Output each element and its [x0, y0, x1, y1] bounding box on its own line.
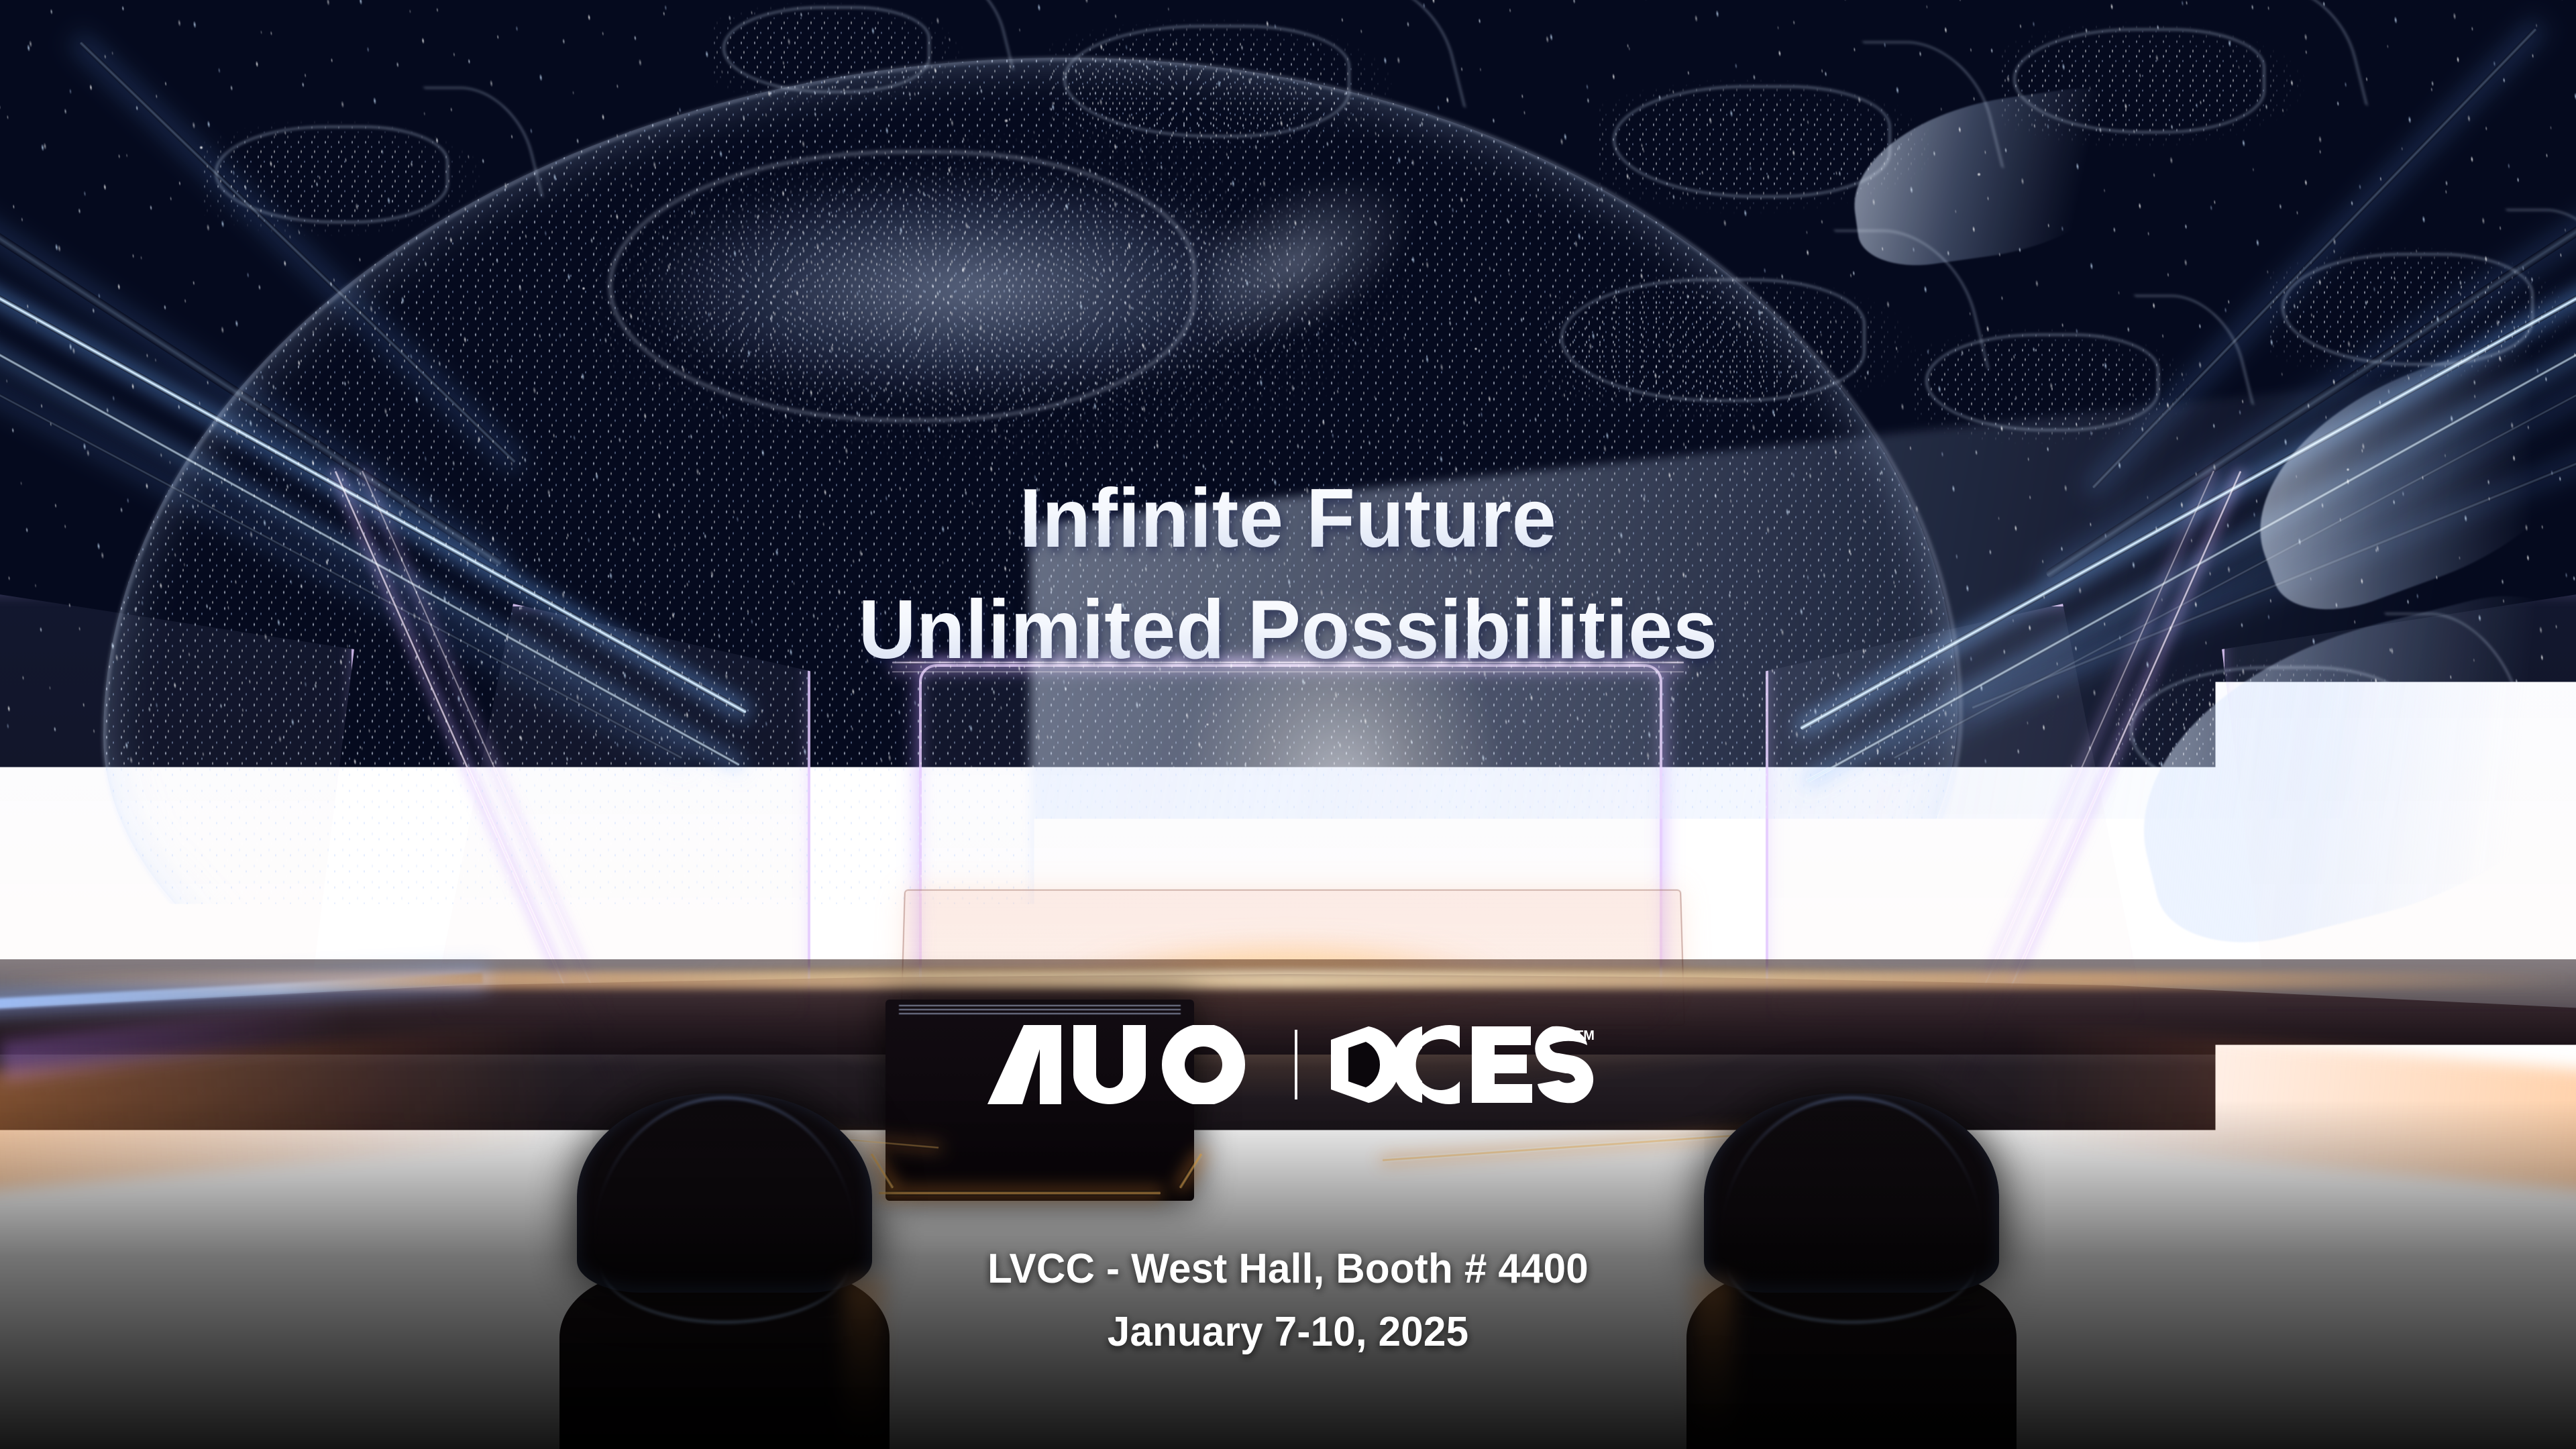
event-dates: January 7-10, 2025 [39, 1301, 2538, 1364]
event-venue: LVCC - West Hall, Booth # 4400 [39, 1238, 2538, 1301]
ces-logo: TM [1328, 1025, 1594, 1104]
console-vent-lines [899, 1005, 1181, 1014]
key-visual-canvas: Infinite Future Unlimited Possibilities … [0, 0, 2576, 1449]
auo-logo: AUO [982, 1025, 1264, 1104]
headline-line-1: Infinite Future [52, 463, 2524, 574]
logo-lockup: AUO TM [0, 1025, 2576, 1104]
event-info-block: LVCC - West Hall, Booth # 4400 January 7… [0, 1238, 2576, 1364]
trademark-symbol: TM [1575, 1028, 1594, 1043]
headline-block: Infinite Future Unlimited Possibilities [0, 463, 2576, 686]
particle-jellyfish [0, 0, 416, 376]
logo-divider [1295, 1030, 1297, 1099]
headline-line-2: Unlimited Possibilities [52, 574, 2524, 686]
